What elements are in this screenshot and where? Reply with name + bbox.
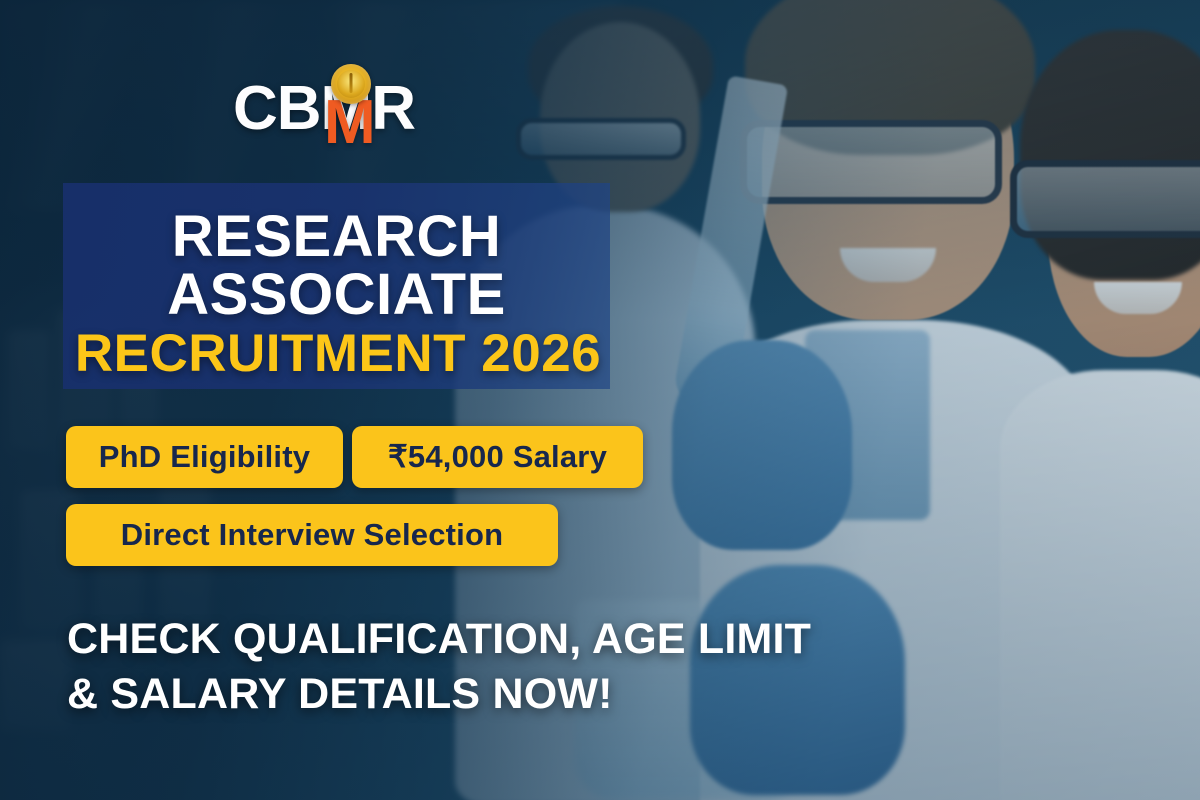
call-to-action: CHECK QUALIFICATION, AGE LIMIT & SALARY … <box>67 612 897 721</box>
title-line-3: RECRUITMENT 2026 <box>62 327 614 380</box>
title-line-1: RESEARCH <box>63 208 610 266</box>
cta-line-1: CHECK QUALIFICATION, AGE LIMIT <box>67 612 897 667</box>
badge-phd-eligibility[interactable]: PhD Eligibility <box>66 426 343 488</box>
cta-line-2: & SALARY DETAILS NOW! <box>67 667 897 722</box>
badge-direct-interview[interactable]: Direct Interview Selection <box>66 504 558 566</box>
title-line-2: ASSOCIATE <box>63 266 610 324</box>
cbmr-logo: CBMR M <box>233 78 415 140</box>
title-block: RESEARCH ASSOCIATE RECRUITMENT 2026 <box>63 183 610 389</box>
gold-seal-emblem-icon <box>331 64 371 104</box>
banner-content: CBMR M RESEARCH ASSOCIATE RECRUITMENT 20… <box>0 0 1200 800</box>
recruitment-banner: CBMR M RESEARCH ASSOCIATE RECRUITMENT 20… <box>0 0 1200 800</box>
badge-salary[interactable]: ₹54,000 Salary <box>352 426 643 488</box>
